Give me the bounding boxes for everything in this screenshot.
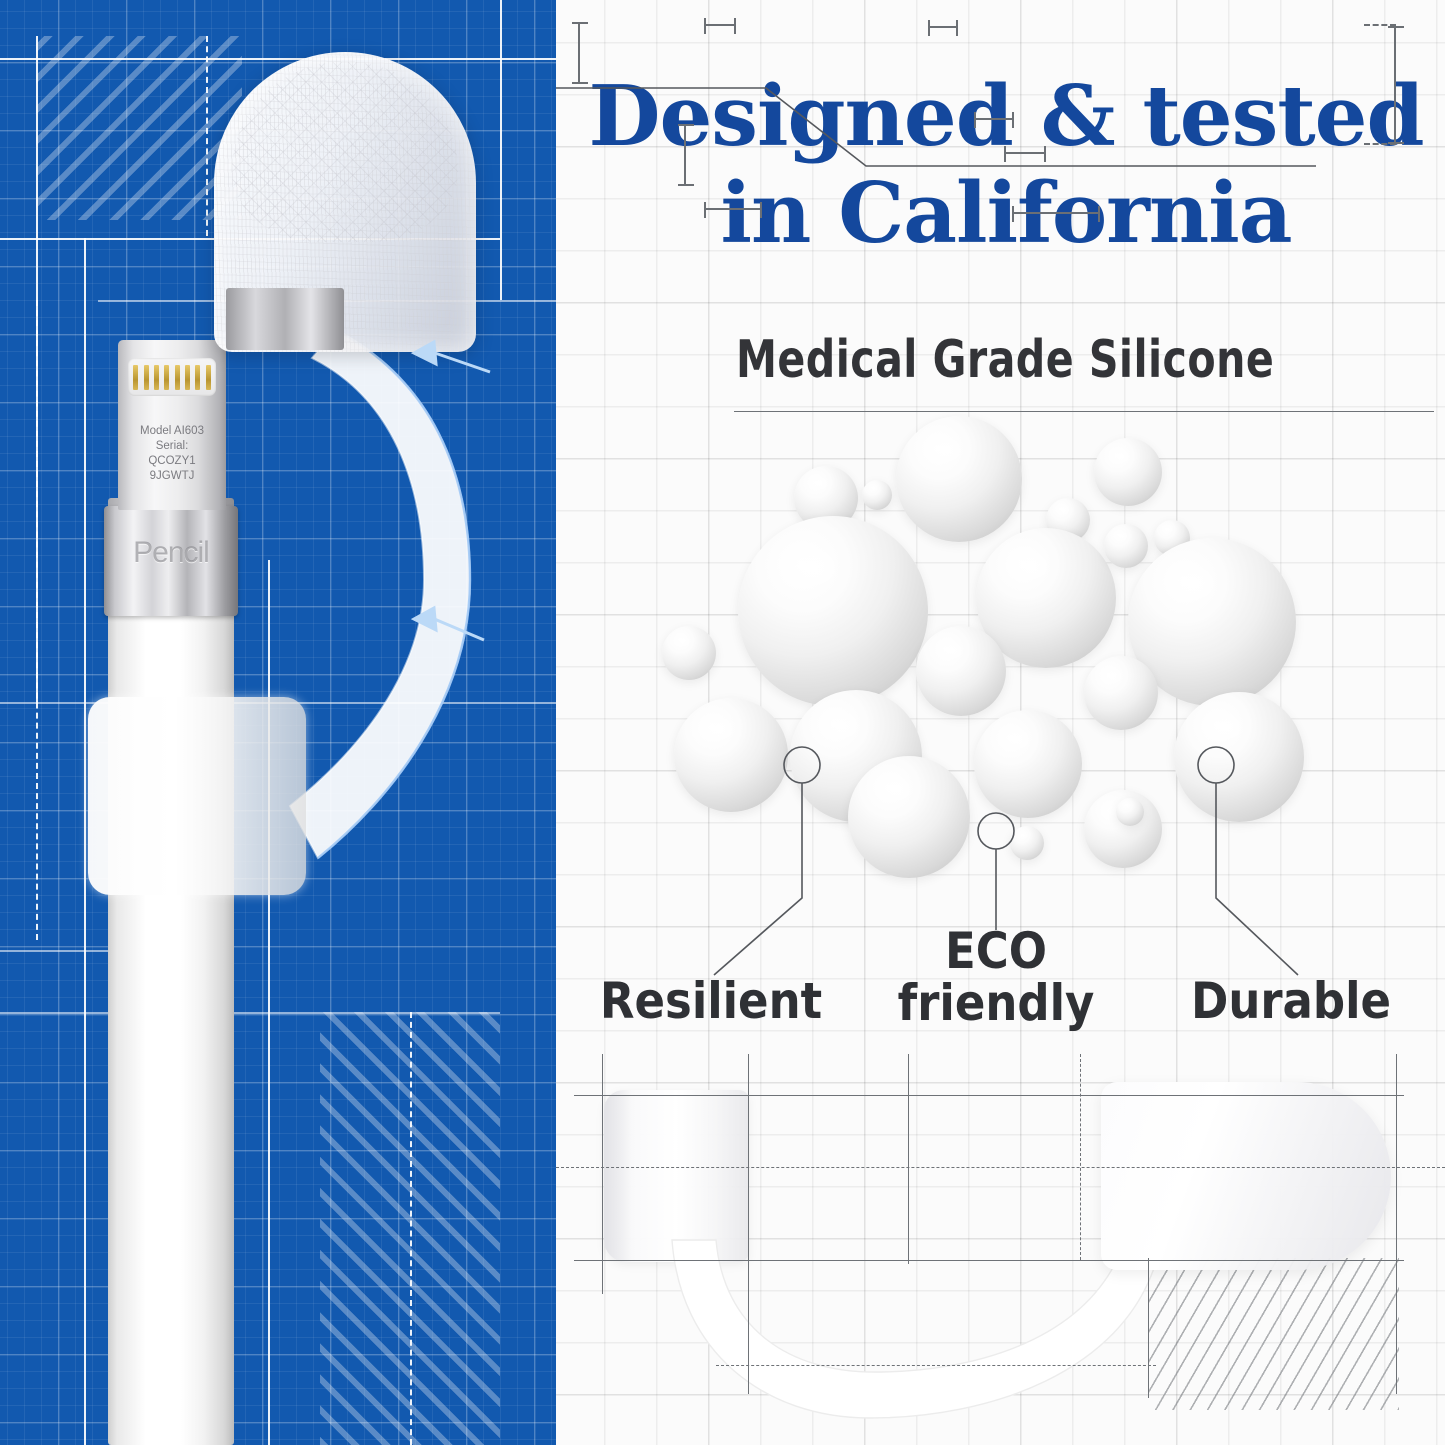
silicone-bubble	[1094, 438, 1162, 506]
silicone-bubble	[974, 710, 1082, 818]
pin	[185, 365, 190, 390]
silicone-bubble	[896, 416, 1022, 542]
feature-label-durable: Durable	[1156, 975, 1426, 1027]
silicone-bubble	[662, 626, 716, 680]
lightning-pins	[128, 358, 216, 396]
silicone-bubble	[1010, 826, 1044, 860]
dim-forn-top	[974, 118, 1014, 120]
drawing-line-v1	[602, 1054, 603, 1294]
page-title: Designed & tested in California	[586, 68, 1426, 262]
dim-te-bottom	[1004, 152, 1046, 154]
features-panel: Designed & tested in California Medical …	[556, 0, 1445, 1445]
drawing-line-v2	[748, 1054, 749, 1394]
silicone-bubble-cluster	[634, 408, 1394, 908]
drawing-centerline	[556, 1167, 1445, 1168]
product-assembly: Pencil Model AI603 Serial: QCOZY1 9JGWTJ	[0, 0, 556, 1445]
pin	[175, 365, 180, 390]
silicone-bubble	[862, 480, 892, 510]
product-serial-label: Model AI603 Serial: QCOZY1 9JGWTJ	[126, 424, 218, 484]
drawing-line-v3	[908, 1054, 909, 1264]
product-infographic: Pencil Model AI603 Serial: QCOZY1 9JGWTJ	[0, 0, 1445, 1445]
dim-in-right	[684, 124, 686, 186]
silicone-bubble	[1174, 692, 1304, 822]
pin	[154, 365, 159, 390]
headline-line-2: in California	[586, 165, 1426, 262]
silicone-bubble	[1116, 798, 1144, 826]
silicone-bubble	[738, 516, 928, 706]
dim-right-edge	[1394, 26, 1396, 144]
silicone-bubble	[916, 626, 1006, 716]
engraved-brand-text: Pencil	[104, 536, 238, 570]
pin	[164, 365, 169, 390]
drawing-hatch-region	[1149, 1258, 1399, 1410]
dim-forn-bottom	[1012, 212, 1100, 214]
material-label: Medical Grade Silicone	[736, 330, 1274, 390]
dim-d-top	[578, 22, 580, 84]
silicone-bubble	[1104, 524, 1148, 568]
drawing-line-top	[574, 1095, 1404, 1096]
headline-line-1: Designed & tested	[586, 68, 1426, 165]
metal-connector-band: Pencil	[104, 506, 238, 616]
drawing-line-v5	[1396, 1054, 1397, 1394]
drawing-dash-bottom	[716, 1365, 1156, 1366]
silicone-cap-base	[226, 288, 344, 350]
dim-cal-bottom	[704, 208, 762, 210]
blueprint-panel: Pencil Model AI603 Serial: QCOZY1 9JGWTJ	[0, 0, 556, 1445]
drawing-dash-v1	[1080, 1054, 1081, 1260]
pin	[133, 365, 138, 390]
feature-label-eco-friendly: ECO friendly	[866, 925, 1126, 1029]
pin	[206, 365, 211, 390]
silicone-bubble	[674, 698, 788, 812]
dim-gn-top	[704, 24, 736, 26]
pin	[195, 365, 200, 390]
drawing-line-v4	[1148, 1258, 1149, 1398]
silicone-bubble	[848, 756, 970, 878]
feature-label-resilient: Resilient	[566, 975, 856, 1027]
dim-amp-top	[928, 26, 958, 28]
silicone-bubble	[1084, 656, 1158, 730]
drawing-line-mid	[574, 1260, 1404, 1261]
drawing-tether-ring-rim	[604, 1090, 632, 1262]
silicone-collar-ring	[88, 697, 306, 895]
pin	[144, 365, 149, 390]
drawing-silicone-cap	[1101, 1082, 1391, 1270]
technical-drawing	[556, 1040, 1445, 1445]
